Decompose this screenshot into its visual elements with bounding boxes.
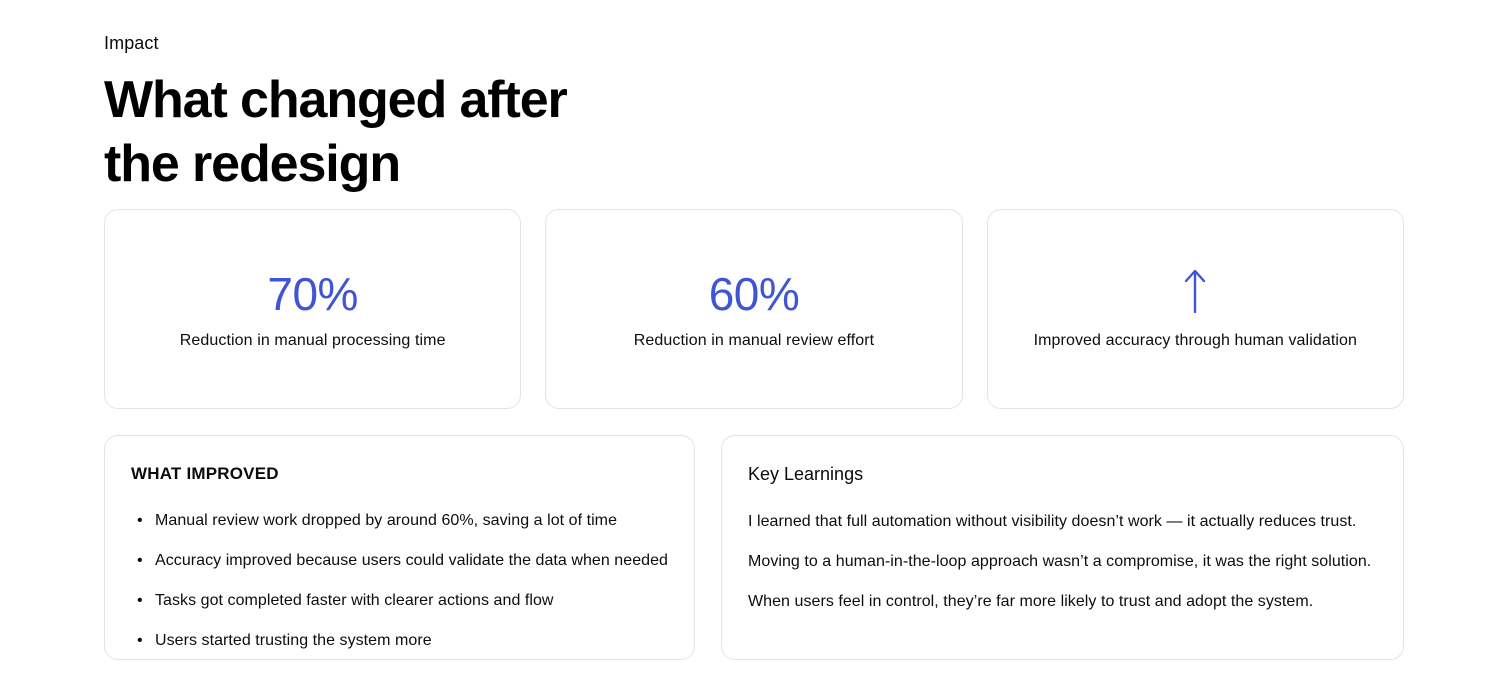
stat-card-row: 70% Reduction in manual processing time … — [104, 209, 1404, 409]
stat-value: 70% — [267, 267, 358, 321]
panel-title: WHAT IMPROVED — [131, 462, 668, 486]
stat-card-processing-time: 70% Reduction in manual processing time — [104, 209, 521, 409]
detail-panel-row: WHAT IMPROVED Manual review work dropped… — [104, 435, 1404, 660]
section-eyebrow-label: Impact — [104, 30, 1004, 56]
page-title: What changed after the redesign — [104, 68, 1004, 196]
panel-title: Key Learnings — [748, 462, 1377, 486]
list-item: Users started trusting the system more — [131, 621, 668, 661]
stat-card-accuracy: Improved accuracy through human validati… — [987, 209, 1404, 409]
stat-label: Reduction in manual review effort — [634, 330, 874, 352]
stat-label: Reduction in manual processing time — [180, 330, 446, 352]
list-item: Manual review work dropped by around 60%… — [131, 501, 668, 541]
panel-key-learnings: Key Learnings I learned that full automa… — [721, 435, 1404, 660]
impact-section: Impact What changed after the redesign 7… — [0, 0, 1512, 678]
stat-value: 60% — [709, 267, 800, 321]
panel-what-improved: WHAT IMPROVED Manual review work dropped… — [104, 435, 695, 660]
stat-card-review-effort: 60% Reduction in manual review effort — [545, 209, 962, 409]
improvements-list: Manual review work dropped by around 60%… — [131, 501, 668, 661]
key-learnings-body: I learned that full automation without v… — [748, 502, 1377, 622]
stat-label: Improved accuracy through human validati… — [1034, 330, 1358, 352]
arrow-up-icon — [1182, 267, 1208, 313]
list-item: Tasks got completed faster with clearer … — [131, 581, 668, 621]
list-item: Accuracy improved because users could va… — [131, 541, 668, 581]
page-header: Impact What changed after the redesign — [104, 30, 1004, 196]
